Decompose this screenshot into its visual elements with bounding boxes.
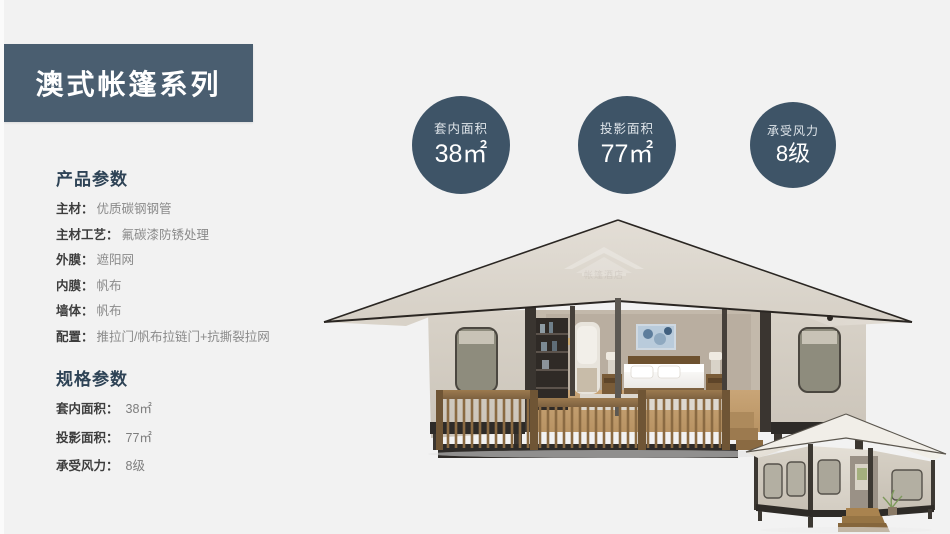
param-value: 遮阳网 <box>97 254 135 267</box>
stat-label: 投影面积 <box>600 123 654 136</box>
param-row: 外膜： 遮阳网 <box>56 254 356 267</box>
spec-row: 套内面积： 38㎡ <box>56 403 356 416</box>
stat-value: 77㎡ <box>601 142 654 167</box>
param-label: 配置： <box>56 331 94 344</box>
spec-params-heading: 规格参数 <box>56 365 356 390</box>
param-value: 帆布 <box>97 280 122 293</box>
stat-badge-wind-resistance: 承受风力 8级 <box>750 102 836 188</box>
stat-value: 8级 <box>776 143 810 165</box>
param-value: 推拉门/帆布拉链门+抗撕裂拉网 <box>97 331 270 344</box>
stat-value: 38㎡ <box>435 142 488 167</box>
stat-badge-projected-area: 投影面积 77㎡ <box>578 96 676 194</box>
spec-value: 38㎡ <box>126 403 152 416</box>
param-value: 优质碳钢钢管 <box>97 203 172 216</box>
stat-label: 承受风力 <box>767 125 819 137</box>
spec-label: 投影面积： <box>56 432 119 445</box>
product-params-heading: 产品参数 <box>56 165 356 190</box>
param-row: 主材工艺： 氟碳漆防锈处理 <box>56 229 356 242</box>
left-edge-strip <box>0 0 4 534</box>
param-value: 氟碳漆防锈处理 <box>122 229 210 242</box>
page-title: 澳式帐篷系列 <box>35 63 221 103</box>
spec-row: 承受风力： 8级 <box>56 460 356 473</box>
spec-value: 77㎡ <box>126 432 152 445</box>
param-row: 主材： 优质碳钢钢管 <box>56 203 356 216</box>
param-label: 主材： <box>56 203 94 216</box>
param-row: 墙体： 帆布 <box>56 305 356 318</box>
product-spec-page: 澳式帐篷系列 产品参数 主材： 优质碳钢钢管 主材工艺： 氟碳漆防锈处理 外膜：… <box>0 0 950 534</box>
param-label: 外膜： <box>56 254 94 267</box>
param-label: 墙体： <box>56 305 94 318</box>
inset-tent-image <box>742 408 950 534</box>
param-label: 内膜： <box>56 280 94 293</box>
series-title-banner: 澳式帐篷系列 <box>4 44 253 122</box>
param-row: 配置： 推拉门/帆布拉链门+抗撕裂拉网 <box>56 331 356 344</box>
param-value: 帆布 <box>97 305 122 318</box>
spec-label: 承受风力： <box>56 460 119 473</box>
param-label: 主材工艺： <box>56 229 119 242</box>
spec-label: 套内面积： <box>56 403 119 416</box>
spec-row: 投影面积： 77㎡ <box>56 432 356 445</box>
spec-params-section: 规格参数 套内面积： 38㎡ 投影面积： 77㎡ 承受风力： 8级 <box>56 365 356 473</box>
stat-badge-interior-area: 套内面积 38㎡ <box>412 96 510 194</box>
spec-value: 8级 <box>126 460 145 473</box>
stat-label: 套内面积 <box>434 123 488 136</box>
product-params-list: 主材： 优质碳钢钢管 主材工艺： 氟碳漆防锈处理 外膜： 遮阳网 内膜： 帆布 … <box>56 203 356 343</box>
param-row: 内膜： 帆布 <box>56 280 356 293</box>
info-column: 产品参数 主材： 优质碳钢钢管 主材工艺： 氟碳漆防锈处理 外膜： 遮阳网 内膜… <box>56 165 356 489</box>
